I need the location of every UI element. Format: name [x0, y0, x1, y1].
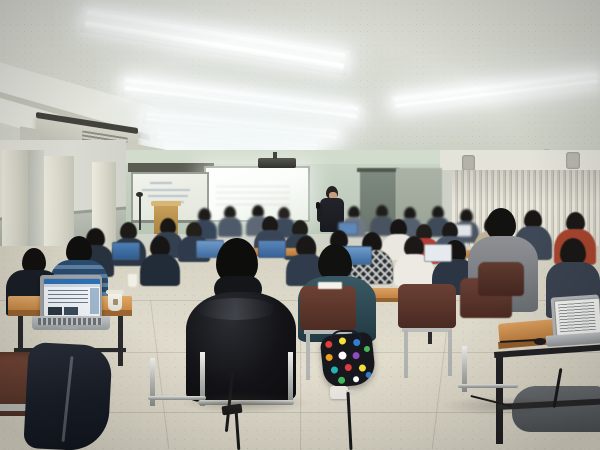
- dot: [331, 366, 339, 374]
- paper-coffee-cup-left-logo: [113, 299, 118, 305]
- dot: [338, 376, 346, 384]
- wall-speaker-right: [566, 152, 580, 169]
- attendee-black-puffy-shoulder-sheen: [196, 298, 276, 320]
- microphone-head: [136, 192, 143, 197]
- chair-center[interactable]: [300, 286, 356, 330]
- laptop-mid-right2: [424, 244, 452, 262]
- wall-pillar-1: [2, 150, 28, 260]
- laptop-foreground-left-trackpad: [62, 326, 78, 329]
- laptop-screen-thumbnail: [48, 307, 62, 315]
- chair-center-right-leg-r: [448, 330, 452, 376]
- ceiling-projector: [258, 158, 296, 168]
- desk-front-left-leg-r: [118, 316, 123, 366]
- dot: [325, 354, 333, 362]
- dot: [364, 346, 371, 353]
- doorway-frame: [357, 168, 399, 172]
- attendee-mid-3-body: [140, 254, 180, 286]
- laptop-screen-sidebar: [90, 288, 99, 314]
- floor-shadow-right: [440, 396, 560, 416]
- lectern-top: [151, 201, 181, 206]
- paper-stack-on-desk: [318, 282, 342, 289]
- presenter-microphone: [316, 202, 320, 209]
- chair-center-leg-l: [306, 332, 310, 380]
- chair-crossbar-right: [458, 384, 518, 388]
- laptop-mid-center: [258, 240, 286, 258]
- chair-center-right[interactable]: [398, 284, 456, 328]
- floor-shadow-center: [180, 392, 310, 414]
- dot: [338, 351, 347, 360]
- laptop-foreground-right-screen[interactable]: [554, 297, 600, 336]
- polka-dot-backpack-strap: [330, 330, 362, 341]
- laptop-foreground-left-screen[interactable]: [43, 278, 101, 317]
- dot: [352, 352, 360, 360]
- paper-coffee-cup-center: [128, 274, 137, 287]
- attendee-far-2-body: [218, 217, 242, 237]
- dot: [325, 341, 333, 349]
- lecture-hall-photo: [0, 0, 600, 450]
- dot: [344, 364, 352, 372]
- chair-center-right-leg-l: [404, 330, 408, 378]
- microphone-stand: [139, 196, 141, 230]
- laptop-mid-left: [112, 242, 140, 260]
- dot: [359, 364, 367, 372]
- chair-center-right-frame: [402, 328, 452, 332]
- chair-far-right[interactable]: [478, 262, 524, 296]
- laptop-right-doc-lines: [558, 302, 596, 332]
- paper-coffee-cup-left-lid: [106, 290, 124, 294]
- laptop-screen-content-lines: [48, 290, 88, 306]
- wall-speaker-left: [462, 155, 475, 171]
- laptop-screen-thumbnail2: [64, 307, 78, 315]
- front-wall-beam: [128, 163, 214, 172]
- laptop-screen-toolbar: [44, 284, 100, 287]
- ceiling-projector-mount: [273, 152, 277, 159]
- dot: [353, 376, 360, 383]
- laptop-foreground-left-keyboard: [38, 318, 102, 325]
